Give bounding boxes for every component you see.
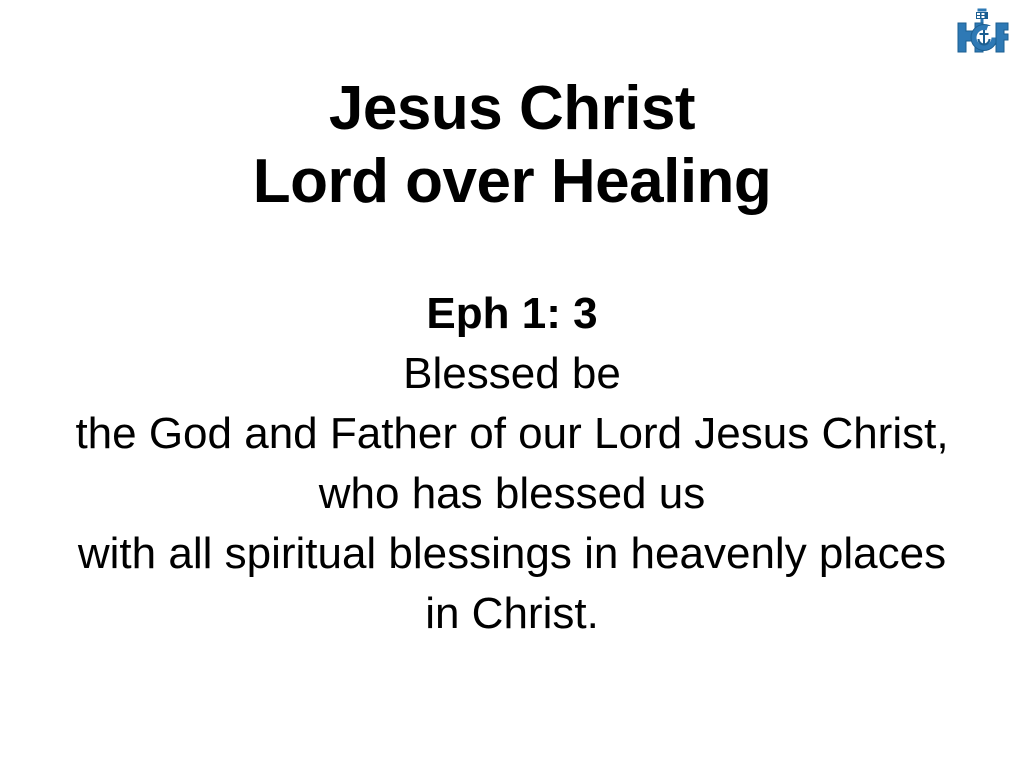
title-line-1: Jesus Christ — [0, 72, 1024, 145]
verse-line-2: the God and Father of our Lord Jesus Chr… — [0, 404, 1024, 464]
title-line-2: Lord over Healing — [0, 145, 1024, 218]
verse-line-3: who has blessed us — [0, 464, 1024, 524]
verse-line-1: Blessed be — [0, 344, 1024, 404]
presentation-slide: Jesus Christ Lord over Healing Eph 1: 3 … — [0, 0, 1024, 768]
scripture-body: Eph 1: 3 Blessed be the God and Father o… — [0, 284, 1024, 644]
scripture-reference: Eph 1: 3 — [0, 284, 1024, 344]
verse-line-4: with all spiritual blessings in heavenly… — [0, 524, 1024, 584]
hcf-logo-icon — [954, 6, 1010, 58]
slide-title: Jesus Christ Lord over Healing — [0, 72, 1024, 218]
verse-line-5: in Christ. — [0, 584, 1024, 644]
